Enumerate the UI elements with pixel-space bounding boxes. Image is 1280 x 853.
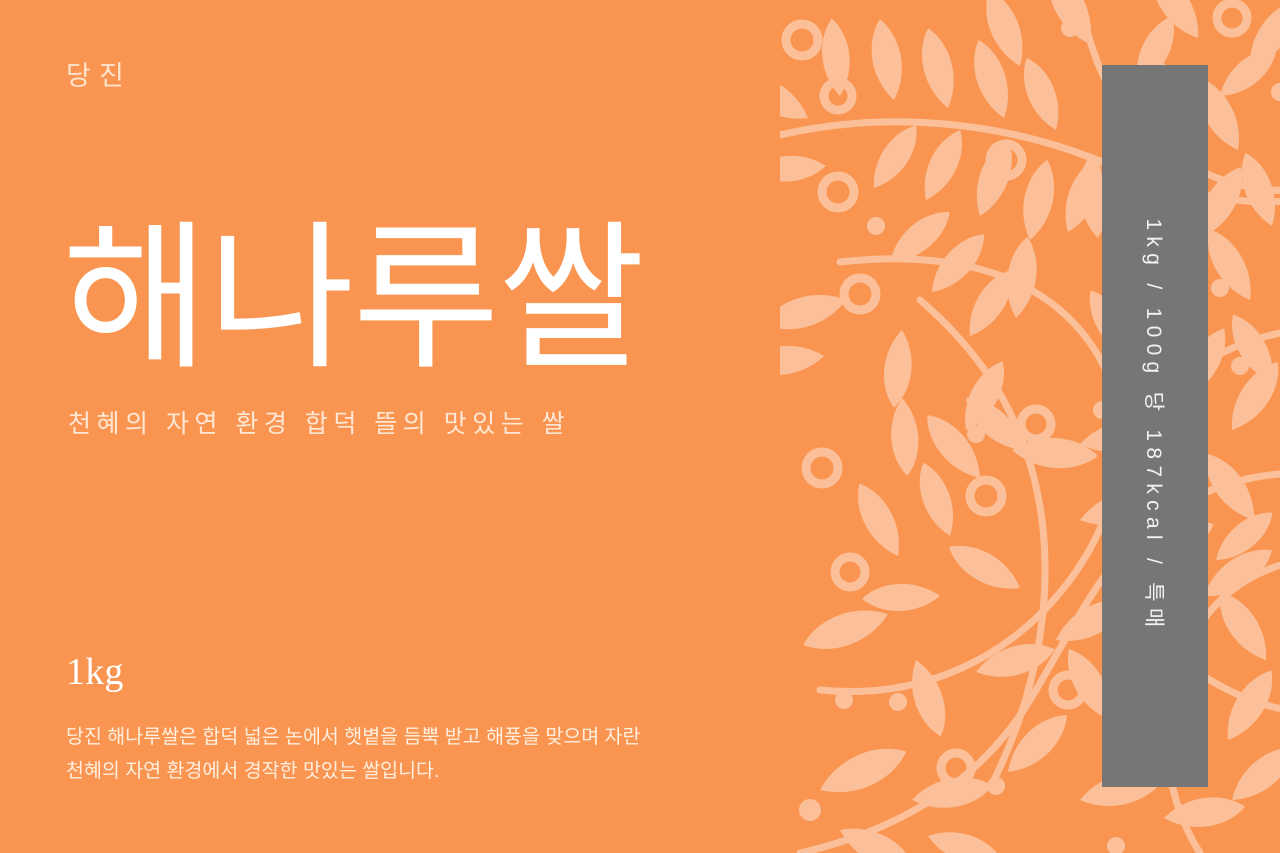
nutrition-vertical-text: 1kg / 100g 당 187kcal / 특매 [1102, 65, 1208, 787]
product-tagline: 천혜의 자연 환경 합덕 뜰의 맛있는 쌀 [68, 404, 570, 440]
description-line-2: 천혜의 자연 환경에서 경작한 맛있는 쌀입니다. [66, 754, 726, 789]
region-eyebrow: 당진 [66, 60, 132, 92]
rice-package-label: 당진 해나루쌀 천혜의 자연 환경 합덕 뜰의 맛있는 쌀 1kg 당진 해나루… [0, 0, 1280, 853]
product-description: 당진 해나루쌀은 합덕 넓은 논에서 햇볕을 듬뿍 받고 해풍을 맞으며 자란 … [66, 720, 726, 789]
description-line-1: 당진 해나루쌀은 합덕 넓은 논에서 햇볕을 듬뿍 받고 해풍을 맞으며 자란 [66, 720, 726, 755]
net-weight-label: 1kg [66, 650, 124, 694]
product-headline: 해나루쌀 [62, 211, 643, 390]
nutrition-info-panel: 1kg / 100g 당 187kcal / 특매 [1102, 65, 1208, 787]
